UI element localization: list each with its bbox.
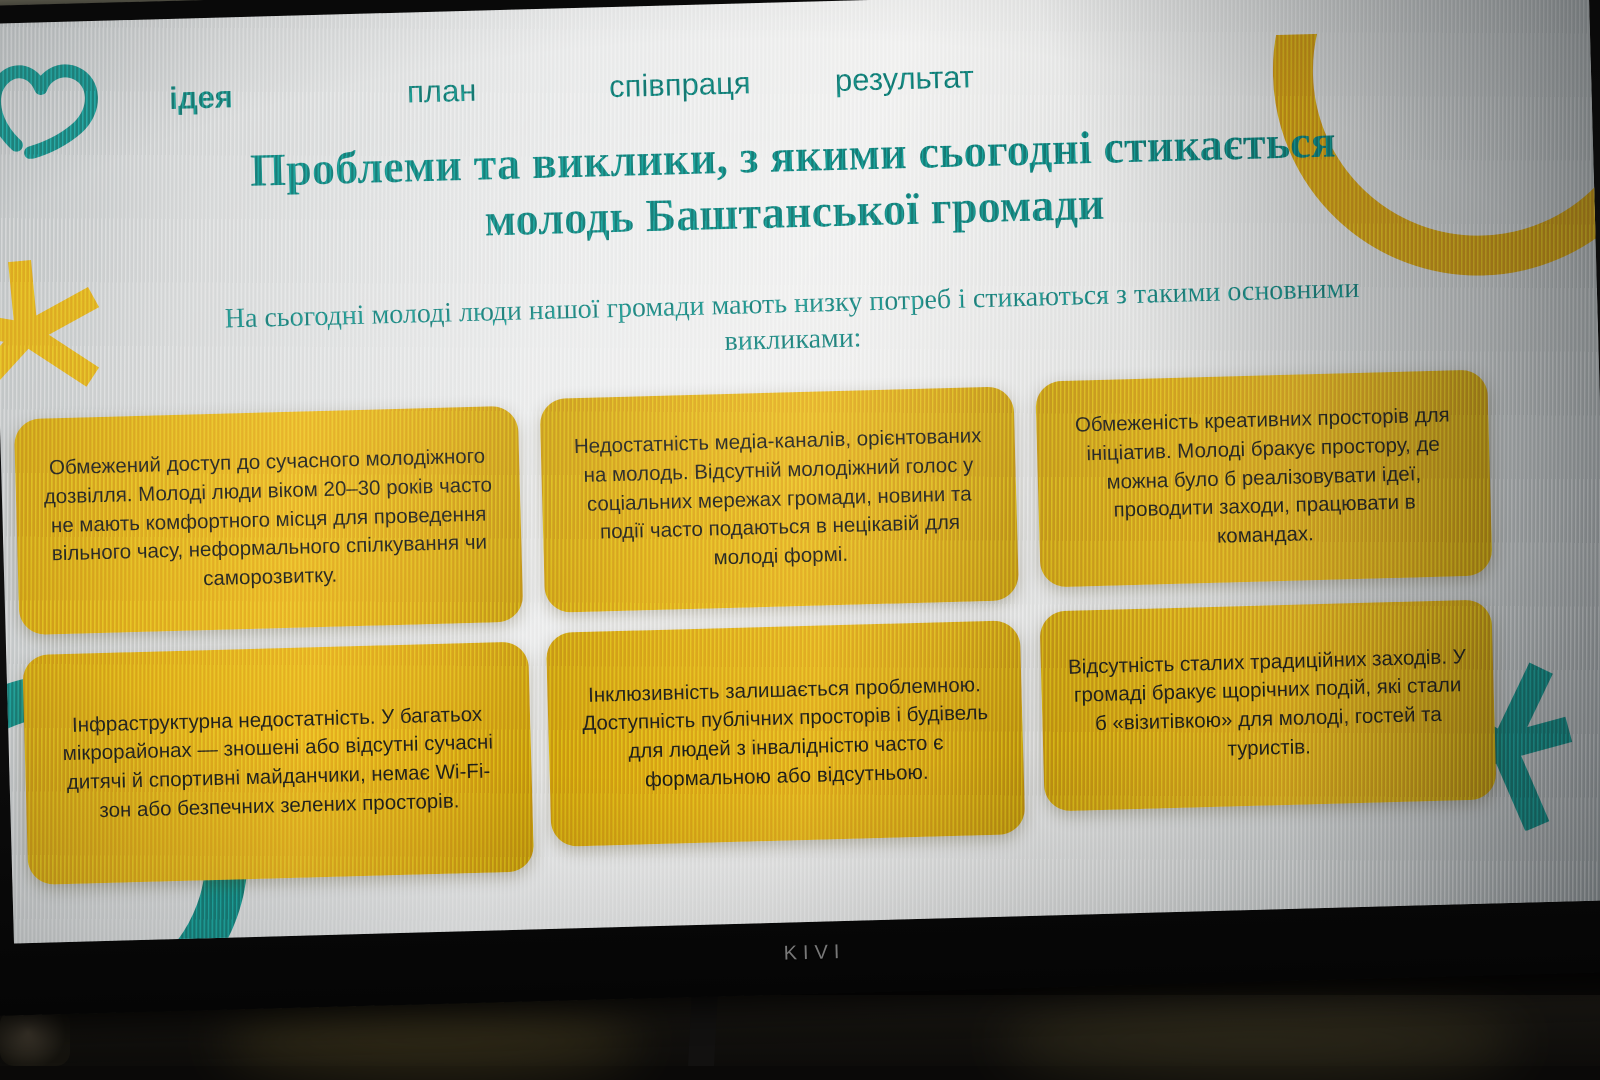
- desk-light-glow-left: [220, 1000, 640, 1080]
- challenge-card-text: Інклюзивність залишається проблемною. До…: [573, 670, 998, 796]
- starburst-left-icon: [0, 257, 104, 411]
- challenge-card-text: Інфраструктурна недостатність. У багатьо…: [50, 700, 507, 827]
- challenge-card[interactable]: Інклюзивність залишається проблемною. До…: [546, 620, 1026, 847]
- slide-navigation: ідея план співпраця результат: [169, 57, 1070, 131]
- challenge-cards-grid: Обмежений доступ до сучасного молодіжног…: [8, 371, 1500, 891]
- tv-screen[interactable]: ідея план співпраця результат Проблеми т…: [0, 0, 1600, 943]
- heart-outline-icon: [0, 47, 107, 160]
- slide-subtitle: На сьогодні молоді люди нашої громади ма…: [197, 270, 1389, 375]
- tv-stand-leg: [688, 990, 718, 1066]
- nav-item-plan[interactable]: план: [407, 73, 477, 111]
- background-object-left: [0, 1010, 70, 1066]
- desk-light-glow-right: [1000, 1002, 1520, 1080]
- challenge-card-text: Недостатність медіа-каналів, орієнтовани…: [566, 422, 992, 577]
- challenge-card[interactable]: Інфраструктурна недостатність. У багатьо…: [22, 641, 534, 885]
- television: ідея план співпраця результат Проблеми т…: [0, 0, 1600, 1016]
- challenge-card-text: Обмежений доступ до сучасного молодіжног…: [41, 443, 497, 599]
- presentation-slide: ідея план співпраця результат Проблеми т…: [0, 0, 1600, 943]
- challenge-card[interactable]: Обмеженість креативних просторів для іні…: [1035, 369, 1492, 587]
- tv-brand-logo: KIVI: [783, 941, 845, 966]
- challenge-card[interactable]: Відсутність сталих традиційних заходів. …: [1039, 599, 1496, 811]
- challenge-card[interactable]: Недостатність медіа-каналів, орієнтовани…: [539, 386, 1019, 613]
- nav-item-spivpratsya[interactable]: співпраця: [609, 65, 751, 105]
- nav-item-ideya[interactable]: ідея: [169, 79, 234, 117]
- challenge-card[interactable]: Обмежений доступ до сучасного молодіжног…: [14, 406, 524, 636]
- slide-title: Проблеми та виклики, з якими сьогодні ст…: [232, 113, 1355, 255]
- nav-item-rezultat[interactable]: результат: [834, 59, 974, 99]
- challenge-card-text: Відсутність сталих традиційних заходів. …: [1067, 643, 1470, 769]
- challenge-card-text: Обмеженість креативних просторів для іні…: [1062, 401, 1466, 555]
